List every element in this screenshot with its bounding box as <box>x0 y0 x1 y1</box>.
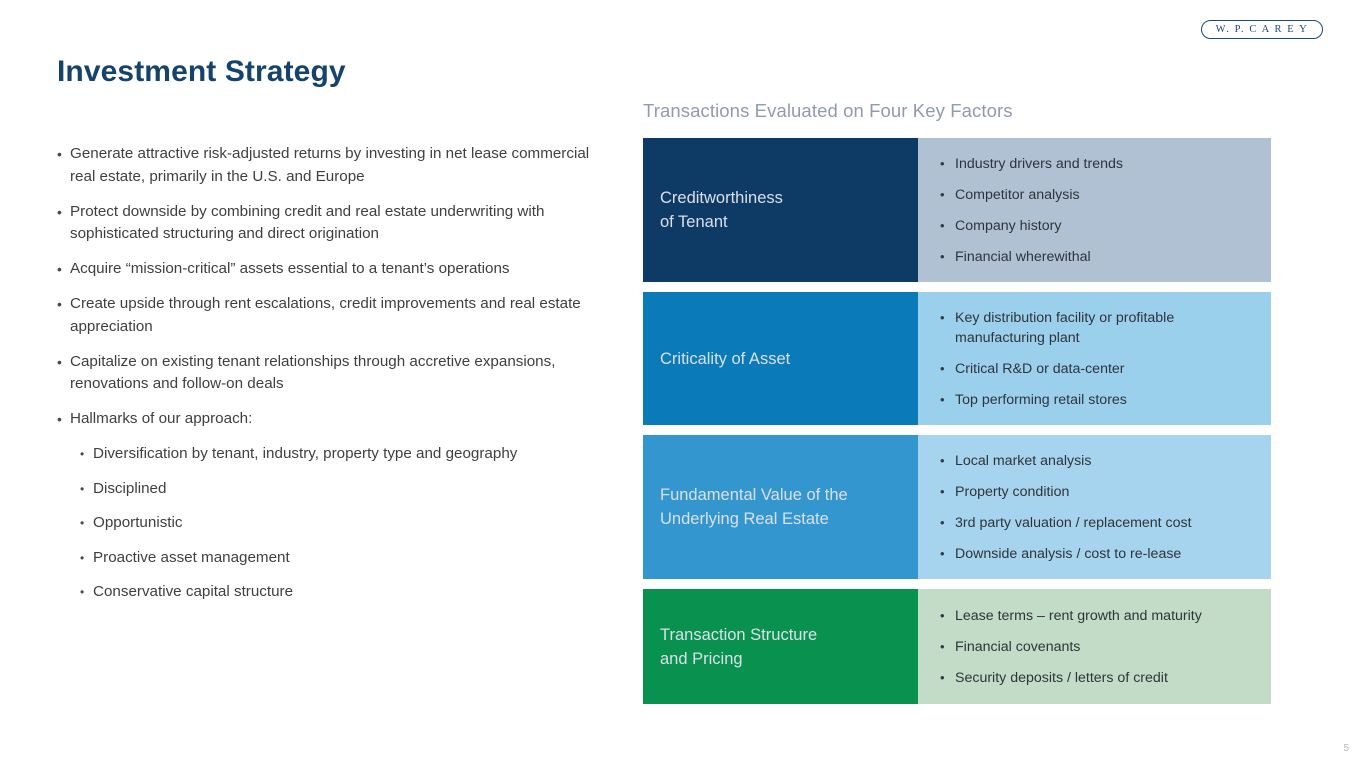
page-title: Investment Strategy <box>57 55 346 89</box>
factor-row: Creditworthinessof Tenant•Industry drive… <box>643 138 1271 282</box>
key-factors-heading: Transactions Evaluated on Four Key Facto… <box>643 100 1271 122</box>
sub-list-item-label: Proactive asset management <box>93 547 617 570</box>
factor-point: •Industry drivers and trends <box>940 154 1257 174</box>
factor-points-cell: •Industry drivers and trends•Competitor … <box>918 138 1271 282</box>
sub-list-item: • Conservative capital structure <box>80 581 617 604</box>
list-item: • Generate attractive risk-adjusted retu… <box>57 143 617 188</box>
bullet-dot-icon: • <box>940 308 955 328</box>
list-item-label: Capitalize on existing tenant relationsh… <box>70 351 617 396</box>
factor-label-text: Criticality of Asset <box>660 347 790 371</box>
sub-list-item: • Proactive asset management <box>80 547 617 570</box>
factor-points-cell: •Local market analysis•Property conditio… <box>918 435 1271 579</box>
hallmarks-sub-list: • Diversification by tenant, industry, p… <box>57 443 617 604</box>
factor-point-label: Financial covenants <box>955 637 1257 657</box>
bullet-dot-icon: • <box>940 637 955 657</box>
bullet-dot-icon: • <box>940 185 955 205</box>
sub-list-item: • Opportunistic <box>80 512 617 535</box>
factor-points-cell: •Key distribution facility or profitable… <box>918 292 1271 425</box>
factor-point-label: Critical R&D or data-center <box>955 359 1257 379</box>
bullet-dot-icon: • <box>940 482 955 502</box>
sub-list-item-label: Diversification by tenant, industry, pro… <box>93 443 617 466</box>
factor-point-label: Lease terms – rent growth and maturity <box>955 606 1257 626</box>
factor-label-cell: Creditworthinessof Tenant <box>643 138 918 282</box>
factor-label-cell: Fundamental Value of theUnderlying Real … <box>643 435 918 579</box>
factor-row: Criticality of Asset•Key distribution fa… <box>643 292 1271 425</box>
sub-list-item: • Disciplined <box>80 478 617 501</box>
list-item: • Capitalize on existing tenant relation… <box>57 351 617 396</box>
factor-point: •Company history <box>940 216 1257 236</box>
factor-point: •Local market analysis <box>940 451 1257 471</box>
list-item: • Hallmarks of our approach: <box>57 408 617 431</box>
bullet-dot-icon: • <box>940 154 955 174</box>
factor-point: •Financial wherewithal <box>940 247 1257 267</box>
bullet-dot-icon: • <box>940 359 955 379</box>
list-item-label: Protect downside by combining credit and… <box>70 201 617 246</box>
factor-point-label: Competitor analysis <box>955 185 1257 205</box>
list-item: • Acquire “mission-critical” assets esse… <box>57 258 617 281</box>
list-item-label: Generate attractive risk-adjusted return… <box>70 143 617 188</box>
factor-point-label: Industry drivers and trends <box>955 154 1257 174</box>
bullet-dot-icon: • <box>940 451 955 471</box>
factor-point: •Downside analysis / cost to re-lease <box>940 544 1257 564</box>
bullet-dot-icon: • <box>80 581 93 604</box>
factor-label-text: Transaction Structureand Pricing <box>660 623 817 671</box>
list-item-label: Acquire “mission-critical” assets essent… <box>70 258 617 281</box>
page-number: 5 <box>1343 743 1349 754</box>
factor-label-cell: Transaction Structureand Pricing <box>643 589 918 704</box>
key-factors-table: Creditworthinessof Tenant•Industry drive… <box>643 138 1271 704</box>
list-item: • Create upside through rent escalations… <box>57 293 617 338</box>
bullet-dot-icon: • <box>57 351 70 374</box>
bullet-dot-icon: • <box>80 478 93 501</box>
factor-point-label: Top performing retail stores <box>955 390 1257 410</box>
factor-point: •Top performing retail stores <box>940 390 1257 410</box>
factor-points-cell: •Lease terms – rent growth and maturity•… <box>918 589 1271 704</box>
sub-list-item-label: Conservative capital structure <box>93 581 617 604</box>
factor-point-label: Key distribution facility or profitable … <box>955 308 1257 348</box>
factor-point-label: Downside analysis / cost to re-lease <box>955 544 1257 564</box>
bullet-dot-icon: • <box>80 443 93 466</box>
factor-point: •Property condition <box>940 482 1257 502</box>
bullet-dot-icon: • <box>80 547 93 570</box>
list-item: • Protect downside by combining credit a… <box>57 201 617 246</box>
bullet-dot-icon: • <box>940 216 955 236</box>
factor-label-cell: Criticality of Asset <box>643 292 918 425</box>
factor-point: •Critical R&D or data-center <box>940 359 1257 379</box>
strategy-bullet-list: • Generate attractive risk-adjusted retu… <box>57 143 617 616</box>
factor-point-label: 3rd party valuation / replacement cost <box>955 513 1257 533</box>
factor-point: •Financial covenants <box>940 637 1257 657</box>
factor-point: •Competitor analysis <box>940 185 1257 205</box>
sub-list-item-label: Disciplined <box>93 478 617 501</box>
factor-point-label: Property condition <box>955 482 1257 502</box>
factor-point: •Security deposits / letters of credit <box>940 668 1257 688</box>
factor-row: Fundamental Value of theUnderlying Real … <box>643 435 1271 579</box>
bullet-dot-icon: • <box>940 606 955 626</box>
factor-label-text: Creditworthinessof Tenant <box>660 186 783 234</box>
bullet-dot-icon: • <box>80 512 93 535</box>
list-item-label: Create upside through rent escalations, … <box>70 293 617 338</box>
bullet-dot-icon: • <box>940 544 955 564</box>
factor-point: •Lease terms – rent growth and maturity <box>940 606 1257 626</box>
bullet-dot-icon: • <box>57 293 70 316</box>
factor-label-text: Fundamental Value of theUnderlying Real … <box>660 483 848 531</box>
bullet-dot-icon: • <box>940 668 955 688</box>
key-factors-panel: Transactions Evaluated on Four Key Facto… <box>643 100 1271 704</box>
factor-point: •Key distribution facility or profitable… <box>940 308 1257 348</box>
bullet-dot-icon: • <box>940 390 955 410</box>
sub-list-item-label: Opportunistic <box>93 512 617 535</box>
factor-point: •3rd party valuation / replacement cost <box>940 513 1257 533</box>
factor-point-label: Local market analysis <box>955 451 1257 471</box>
wpcarey-logo: W. P. C A R E Y <box>1201 20 1323 39</box>
bullet-dot-icon: • <box>57 201 70 224</box>
bullet-dot-icon: • <box>57 408 70 431</box>
factor-point-label: Company history <box>955 216 1257 236</box>
sub-list-item: • Diversification by tenant, industry, p… <box>80 443 617 466</box>
factor-row: Transaction Structureand Pricing•Lease t… <box>643 589 1271 704</box>
bullet-dot-icon: • <box>57 143 70 166</box>
logo-text: W. P. C A R E Y <box>1216 24 1309 35</box>
bullet-dot-icon: • <box>940 513 955 533</box>
list-item-label: Hallmarks of our approach: <box>70 408 617 431</box>
factor-point-label: Financial wherewithal <box>955 247 1257 267</box>
factor-point-label: Security deposits / letters of credit <box>955 668 1257 688</box>
bullet-dot-icon: • <box>940 247 955 267</box>
bullet-dot-icon: • <box>57 258 70 281</box>
